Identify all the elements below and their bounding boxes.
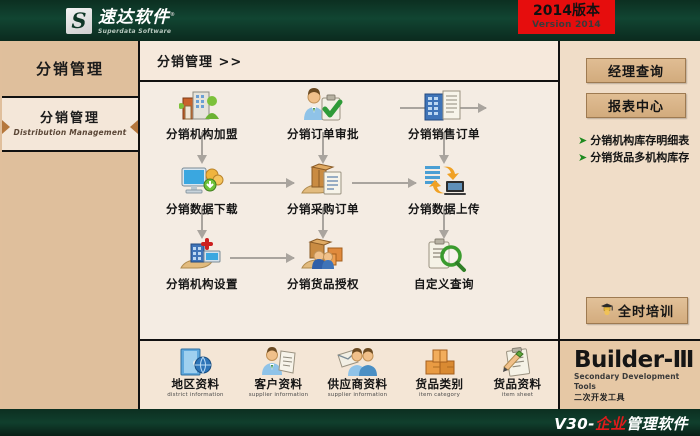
builder-subtitle-cn: 二次开发工具 <box>574 392 700 403</box>
breadcrumb: 分销管理 >> <box>140 41 558 82</box>
main-panel: 分销管理 >> <box>140 41 560 341</box>
branch-settings-icon <box>144 232 260 274</box>
sidebar-title-label: 分销管理 <box>36 58 104 79</box>
shortcut-label: 客户资料 <box>237 377 320 391</box>
custom-query-icon <box>386 232 502 274</box>
app-footer: V30-企业管理软件 <box>0 409 700 436</box>
workflow-node-label: 分销货品授权 <box>265 276 381 292</box>
shortcut-district-info[interactable]: 地区资料 district information <box>154 345 237 399</box>
footer-prefix: V30- <box>554 415 595 433</box>
right-panel: 经理查询 报表中心 ➤ 分销机构库存明细表 ➤ 分销货品多机构库存 <box>560 41 700 341</box>
workflow-node-order-approval[interactable]: 分销订单审批 <box>265 82 381 142</box>
workflow-node-label: 分销机构加盟 <box>144 126 260 142</box>
shortcut-sublabel: supplier information <box>237 391 320 399</box>
workflow-node-label: 分销采购订单 <box>265 201 381 217</box>
sidebar-title: 分销管理 <box>2 41 138 98</box>
app-header: S 速达软件® Superdata Software 2014版本 Versio… <box>0 0 700 41</box>
district-icon <box>154 345 237 377</box>
report-center-label: 报表中心 <box>608 96 664 115</box>
link-branch-stock-detail[interactable]: ➤ 分销机构库存明细表 <box>578 132 689 148</box>
sidebar-item-label: 分销管理 <box>40 111 100 127</box>
footer-suffix: 管理软件 <box>626 415 688 433</box>
shortcut-supplier-info[interactable]: 供应商资料 supplier information <box>316 345 399 399</box>
builder-subtitle-en: Secondary Development Tools <box>574 372 700 392</box>
workflow-node-label: 自定义查询 <box>386 276 502 292</box>
fulltime-training-label: 全时培训 <box>618 301 674 320</box>
report-center-button[interactable]: 报表中心 <box>586 93 686 118</box>
workflow-node-label: 分销订单审批 <box>265 126 381 142</box>
workflow-node-label: 分销数据下载 <box>144 201 260 217</box>
workflow-node-data-download[interactable]: 分销数据下载 <box>144 157 260 217</box>
shortcut-sublabel: district information <box>154 391 237 399</box>
breadcrumb-label: 分销管理 >> <box>157 51 242 70</box>
version-badge-en: Version 2014 <box>518 20 615 30</box>
supplier-icon <box>316 345 399 377</box>
branch-join-icon <box>144 82 260 124</box>
link-label: 分销货品多机构库存 <box>590 149 689 165</box>
goods-authorize-icon <box>265 232 381 274</box>
order-approval-icon <box>265 82 381 124</box>
manager-query-label: 经理查询 <box>608 61 664 80</box>
bullet-arrow-icon: ➤ <box>578 152 587 163</box>
selection-arrow-right-icon <box>130 120 138 134</box>
item-sheet-icon <box>476 345 559 377</box>
shortcut-label: 货品资料 <box>476 377 559 391</box>
bullet-arrow-icon: ➤ <box>578 135 587 146</box>
version-badge: 2014版本 Version 2014 <box>518 0 615 34</box>
sales-order-icon <box>386 82 502 124</box>
logo-mark-icon: S <box>66 8 92 34</box>
data-download-icon <box>144 157 260 199</box>
workflow-node-branch-join[interactable]: 分销机构加盟 <box>144 82 260 142</box>
graduation-cap-icon <box>600 302 614 320</box>
builder-title: Builder-Ⅲ <box>574 348 700 372</box>
workflow-node-label: 分销机构设置 <box>144 276 260 292</box>
purchase-order-icon <box>265 157 381 199</box>
shortcut-item-category[interactable]: 货品类别 item category <box>398 345 481 399</box>
workflow-node-sales-order[interactable]: 分销销售订单 <box>386 82 502 142</box>
body-area: 分销管理 分销管理 Distribution Management 分销管理 >… <box>0 41 700 409</box>
workflow-node-label: 分销销售订单 <box>386 126 502 142</box>
shortcut-sublabel: supplier information <box>316 391 399 399</box>
logo-title-cn: 速达软件® <box>98 6 176 27</box>
link-goods-multi-branch-stock[interactable]: ➤ 分销货品多机构库存 <box>578 149 689 165</box>
workflow-node-purchase-order[interactable]: 分销采购订单 <box>265 157 381 217</box>
sidebar-item-distribution[interactable]: 分销管理 Distribution Management <box>2 98 138 152</box>
bottom-shortcut-strip: 地区资料 district information <box>140 341 560 409</box>
shortcut-sublabel: item sheet <box>476 391 559 399</box>
selection-arrow-left-icon <box>2 120 10 134</box>
application-window: S 速达软件® Superdata Software 2014版本 Versio… <box>0 0 700 436</box>
version-badge-cn: 2014版本 <box>518 2 615 20</box>
workflow-node-data-upload[interactable]: 分销数据上传 <box>386 157 502 217</box>
workflow-diagram: 分销机构加盟 <box>140 82 558 337</box>
shortcut-item-sheet[interactable]: 货品资料 item sheet <box>476 345 559 399</box>
logo-s-glyph: S <box>66 7 92 34</box>
brand-logo: S 速达软件® Superdata Software <box>66 6 176 36</box>
shortcut-sublabel: item category <box>398 391 481 399</box>
builder-branding: Builder-Ⅲ Secondary Development Tools 二次… <box>560 341 700 409</box>
workflow-node-branch-settings[interactable]: 分销机构设置 <box>144 232 260 292</box>
fulltime-training-button[interactable]: 全时培训 <box>586 297 688 324</box>
logo-title-en: Superdata Software <box>98 28 176 36</box>
footer-highlight: 企业 <box>595 415 626 433</box>
workflow-node-custom-query[interactable]: 自定义查询 <box>386 232 502 292</box>
logo-text-block: 速达软件® Superdata Software <box>98 6 176 36</box>
shortcut-customer-info[interactable]: 客户资料 supplier information <box>237 345 320 399</box>
shortcut-label: 供应商资料 <box>316 377 399 391</box>
trademark-icon: ® <box>170 12 176 18</box>
link-label: 分销机构库存明细表 <box>590 132 689 148</box>
footer-product-name: V30-企业管理软件 <box>554 413 688 434</box>
shortcut-label: 货品类别 <box>398 377 481 391</box>
manager-query-button[interactable]: 经理查询 <box>586 58 686 83</box>
workflow-node-goods-authorize[interactable]: 分销货品授权 <box>265 232 381 292</box>
item-category-icon <box>398 345 481 377</box>
data-upload-icon <box>386 157 502 199</box>
sidebar: 分销管理 分销管理 Distribution Management <box>2 41 140 409</box>
shortcut-label: 地区资料 <box>154 377 237 391</box>
sidebar-item-sublabel: Distribution Management <box>14 127 127 138</box>
customer-icon <box>237 345 320 377</box>
workflow-node-label: 分销数据上传 <box>386 201 502 217</box>
